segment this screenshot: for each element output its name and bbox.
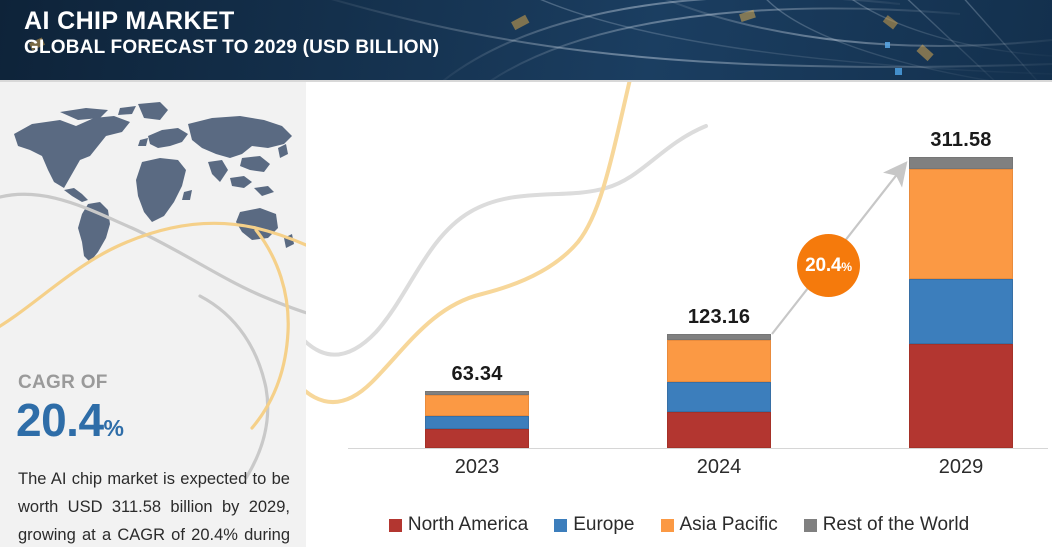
left-info-panel: CAGR OF 20.4% The AI chip market is expe… [0,82,306,547]
summary-paragraph: The AI chip market is expected to be wor… [18,465,290,547]
bar-value-2023: 63.34 [425,363,529,386]
cagr-callout-percent: % [841,260,851,274]
legend-swatch-rest-of-the-world [804,519,817,532]
cagr-value: 20.4% [16,395,123,453]
world-map-graphic [2,96,302,291]
legend-swatch-north-america [389,519,402,532]
legend-swatch-europe [554,519,567,532]
bar-value-2029: 311.58 [909,129,1013,152]
page-title: AI CHIP MARKET [24,7,439,36]
infographic-root: AI CHIP MARKET GLOBAL FORECAST TO 2029 (… [0,0,1052,547]
x-axis-label-2029: 2029 [909,456,1013,479]
legend-item-north-america[interactable]: North America [389,514,528,536]
stacked-bar-chart: 63.34 2023 123.16 2024 311.58 2029 [306,82,1052,547]
header-text-block: AI CHIP MARKET GLOBAL FORECAST TO 2029 (… [24,7,439,60]
x-axis-label-2024: 2024 [667,456,771,479]
bar-segment-rest-of-the-world-2029[interactable] [909,157,1013,169]
legend-label-europe: Europe [573,514,634,536]
bar-value-2024: 123.16 [667,306,771,329]
legend-item-rest-of-the-world[interactable]: Rest of the World [804,514,969,536]
bar-segment-north-america-2029[interactable] [909,344,1013,448]
bar-segment-asia-pacific-2024[interactable] [667,340,771,382]
legend-label-rest-of-the-world: Rest of the World [823,514,969,536]
page-subtitle: GLOBAL FORECAST TO 2029 (USD BILLION) [24,36,439,60]
bar-segment-asia-pacific-2029[interactable] [909,169,1013,279]
cagr-label: CAGR OF [18,372,108,394]
bar-segment-asia-pacific-2023[interactable] [425,395,529,416]
legend-swatch-asia-pacific [661,519,674,532]
bar-segment-north-america-2023[interactable] [425,429,529,448]
header-banner: AI CHIP MARKET GLOBAL FORECAST TO 2029 (… [0,0,1052,80]
legend-label-north-america: North America [408,514,528,536]
bar-2029[interactable] [909,157,1013,448]
cagr-callout-bubble[interactable]: 20.4% [797,234,860,297]
bar-segment-europe-2023[interactable] [425,416,529,429]
cagr-callout-text: 20.4% [805,255,852,277]
legend-item-europe[interactable]: Europe [554,514,634,536]
header-bottom-divider [0,80,1052,82]
cagr-number: 20.4 [16,394,104,446]
legend-label-asia-pacific: Asia Pacific [680,514,778,536]
x-axis-line [348,448,1048,449]
bar-segment-europe-2024[interactable] [667,382,771,412]
chart-legend: North America Europe Asia Pacific Rest o… [306,505,1052,545]
cagr-percent-sign: % [104,415,124,441]
legend-item-asia-pacific[interactable]: Asia Pacific [661,514,778,536]
bar-segment-europe-2029[interactable] [909,279,1013,344]
bar-segment-north-america-2024[interactable] [667,412,771,448]
x-axis-label-2023: 2023 [425,456,529,479]
cagr-callout-value: 20.4 [805,255,841,276]
bar-2024[interactable] [667,334,771,448]
bar-2023[interactable] [425,391,529,448]
